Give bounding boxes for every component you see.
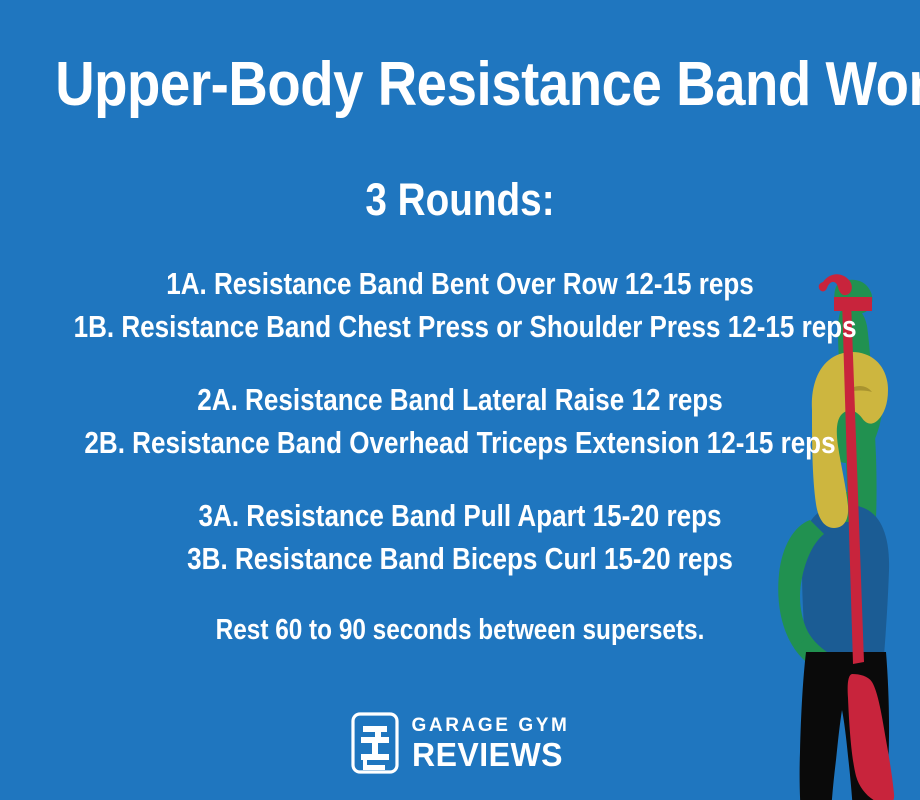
poster-content: Upper-Body Resistance Band Workout 3 Rou… [0, 0, 920, 800]
exercise-line: 3A. Resistance Band Pull Apart 15-20 rep… [74, 494, 847, 537]
workout-infographic: Upper-Body Resistance Band Workout 3 Rou… [0, 0, 920, 800]
brand-name-top: GARAGE GYM [412, 716, 570, 735]
rest-instruction: Rest 60 to 90 seconds between supersets. [74, 610, 847, 650]
weight-bench-icon [351, 712, 399, 774]
exercise-block-2: 2A. Resistance Band Lateral Raise 12 rep… [0, 378, 920, 464]
exercise-line: 2A. Resistance Band Lateral Raise 12 rep… [74, 378, 847, 421]
rounds-subtitle: 3 Rounds: [64, 172, 855, 228]
exercise-blocks: 1A. Resistance Band Bent Over Row 12-15 … [0, 262, 920, 650]
exercise-block-1: 1A. Resistance Band Bent Over Row 12-15 … [0, 262, 920, 348]
exercise-line: 1A. Resistance Band Bent Over Row 12-15 … [74, 262, 847, 305]
exercise-line: 2B. Resistance Band Overhead Triceps Ext… [74, 421, 847, 464]
exercise-line: 3B. Resistance Band Biceps Curl 15-20 re… [74, 537, 847, 580]
exercise-line: 1B. Resistance Band Chest Press or Shoul… [74, 305, 847, 348]
brand-logo: GARAGE GYM REVIEWS [0, 712, 920, 774]
page-title: Upper-Body Resistance Band Workout [55, 47, 865, 123]
brand-name-bottom: REVIEWS [412, 738, 563, 771]
exercise-block-3: 3A. Resistance Band Pull Apart 15-20 rep… [0, 494, 920, 580]
brand-wordmark: GARAGE GYM REVIEWS [412, 716, 570, 771]
